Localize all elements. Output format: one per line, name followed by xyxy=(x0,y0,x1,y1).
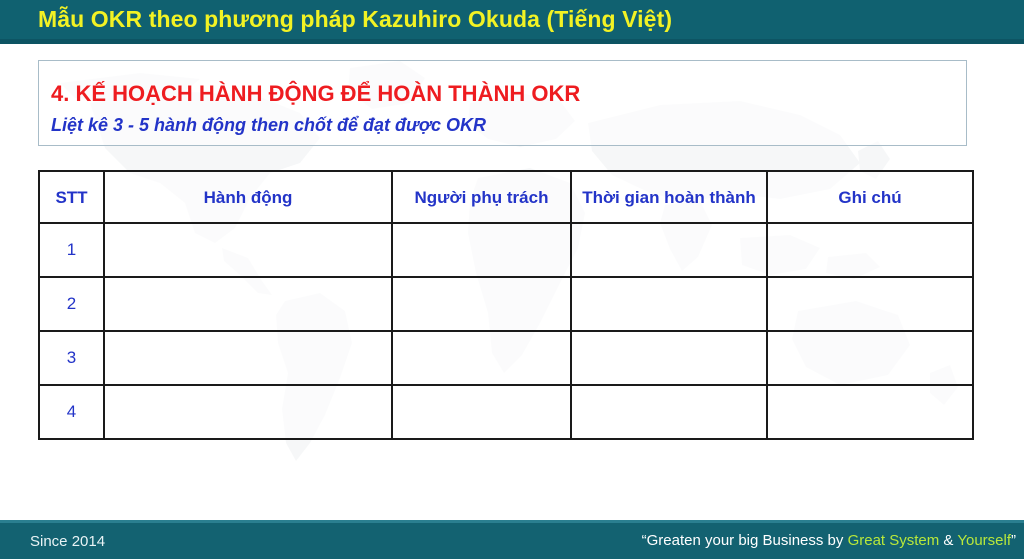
column-header-nguoi-phu-trach: Người phụ trách xyxy=(392,171,571,223)
cell-thoi-gian[interactable] xyxy=(571,223,767,277)
column-header-stt: STT xyxy=(39,171,104,223)
table-row: 3 xyxy=(39,331,973,385)
table-row: 2 xyxy=(39,277,973,331)
column-header-hanh-dong: Hành động xyxy=(104,171,392,223)
tagline-accent-yourself: Yourself xyxy=(957,532,1011,549)
tagline-prefix: “Greaten your big Business by xyxy=(642,532,848,549)
cell-nguoi-phu-trach[interactable] xyxy=(392,385,571,439)
table-row: 1 xyxy=(39,223,973,277)
row-index-cell: 4 xyxy=(39,385,104,439)
cell-ghi-chu[interactable] xyxy=(767,331,973,385)
cell-hanh-dong[interactable] xyxy=(104,331,392,385)
table-header-row: STT Hành động Người phụ trách Thời gian … xyxy=(39,171,973,223)
cell-ghi-chu[interactable] xyxy=(767,385,973,439)
tagline-accent-great-system: Great System xyxy=(848,532,940,549)
cell-thoi-gian[interactable] xyxy=(571,277,767,331)
table-row: 4 xyxy=(39,385,973,439)
column-header-ghi-chu: Ghi chú xyxy=(767,171,973,223)
section-heading: 4. KẾ HOẠCH HÀNH ĐỘNG ĐỂ HOÀN THÀNH OKR xyxy=(51,81,580,107)
column-header-thoi-gian: Thời gian hoàn thành xyxy=(571,171,767,223)
tagline-suffix: ” xyxy=(1011,532,1016,549)
page-title: Mẫu OKR theo phương pháp Kazuhiro Okuda … xyxy=(38,4,672,35)
cell-nguoi-phu-trach[interactable] xyxy=(392,277,571,331)
footer-since-label: Since 2014 xyxy=(30,533,105,550)
slide-canvas: Mẫu OKR theo phương pháp Kazuhiro Okuda … xyxy=(0,0,1024,559)
cell-thoi-gian[interactable] xyxy=(571,331,767,385)
cell-ghi-chu[interactable] xyxy=(767,277,973,331)
cell-hanh-dong[interactable] xyxy=(104,223,392,277)
action-plan-table: STT Hành động Người phụ trách Thời gian … xyxy=(38,170,974,440)
section-subtitle: Liệt kê 3 - 5 hành động then chốt để đạt… xyxy=(51,114,486,136)
cell-nguoi-phu-trach[interactable] xyxy=(392,223,571,277)
section-title-box: 4. KẾ HOẠCH HÀNH ĐỘNG ĐỂ HOÀN THÀNH OKR … xyxy=(38,60,967,146)
row-index-cell: 1 xyxy=(39,223,104,277)
row-index-cell: 3 xyxy=(39,331,104,385)
cell-nguoi-phu-trach[interactable] xyxy=(392,331,571,385)
cell-hanh-dong[interactable] xyxy=(104,277,392,331)
cell-hanh-dong[interactable] xyxy=(104,385,392,439)
row-index-cell: 2 xyxy=(39,277,104,331)
footer-bar: Since 2014 “Greaten your big Business by… xyxy=(0,523,1024,559)
footer-tagline: “Greaten your big Business by Great Syst… xyxy=(642,532,1016,549)
cell-thoi-gian[interactable] xyxy=(571,385,767,439)
tagline-middle: & xyxy=(939,532,957,549)
cell-ghi-chu[interactable] xyxy=(767,223,973,277)
header-bar-underline xyxy=(0,39,1024,44)
